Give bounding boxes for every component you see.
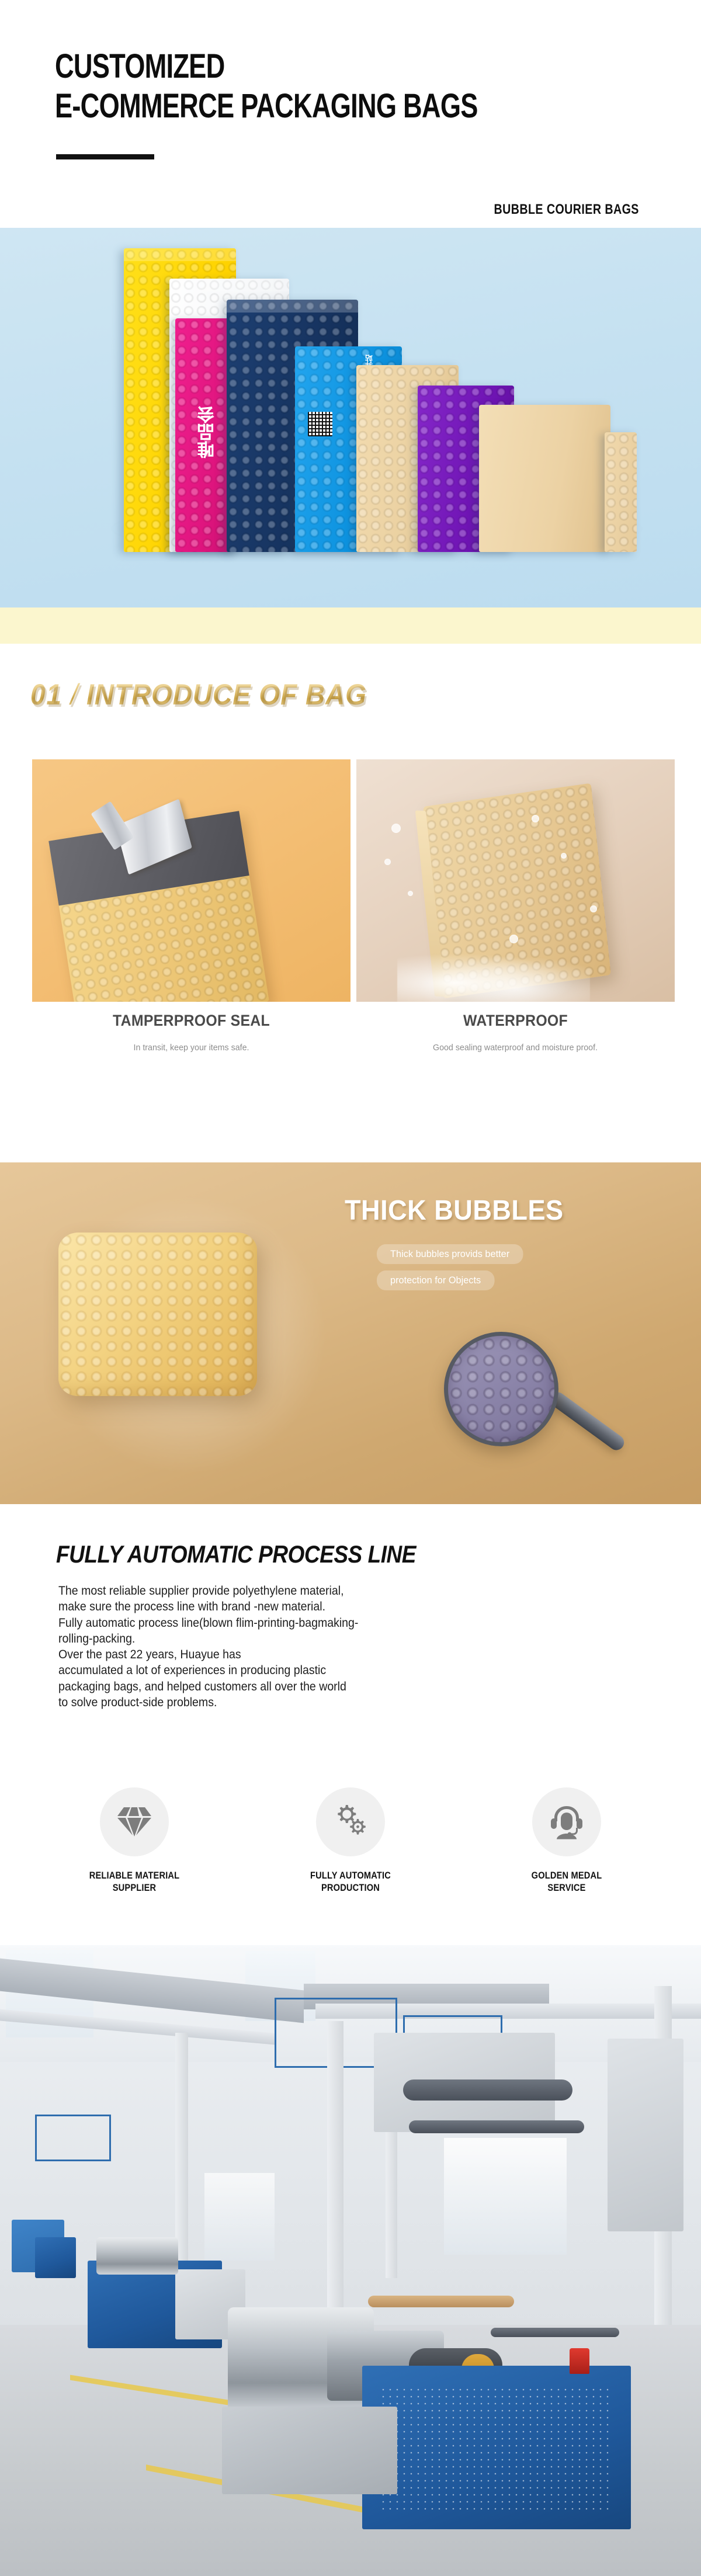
feature-card-tamperproof (32, 759, 350, 1002)
water-droplet (532, 815, 539, 822)
process-line: rolling-packing. (58, 1631, 569, 1647)
warning-lamp (570, 2348, 589, 2374)
section-01-heading: 01 / INTRODUCE OF BAG (30, 678, 367, 711)
qr-code-icon (308, 412, 332, 436)
tamperproof-bag-image (48, 811, 269, 1002)
magnifier-handle (547, 1389, 627, 1453)
water-droplet (509, 935, 518, 943)
title-line-1: CUSTOMIZED (55, 50, 478, 84)
process-line: make sure the process line with brand -n… (58, 1599, 569, 1615)
advantage-reliable-material: RELIABLE MATERIAL SUPPLIER (29, 1787, 240, 1894)
film-roller (403, 2079, 572, 2101)
section-number: 01 (30, 678, 63, 711)
advantage-label: GOLDEN MEDAL SERVICE (476, 1869, 657, 1894)
advantage-label: FULLY AUTOMATIC PRODUCTION (260, 1869, 441, 1894)
page-header: CUSTOMIZED E-COMMERCE PACKAGING BAGS BUB… (0, 0, 701, 228)
headset-icon (549, 1804, 585, 1839)
advantage-label-line-1: GOLDEN MEDAL (476, 1869, 657, 1881)
advantages-row: RELIABLE MATERIAL SUPPLIER FULLY AUTOMAT… (0, 1787, 701, 1945)
icon-circle (100, 1787, 169, 1856)
page-title: CUSTOMIZED E-COMMERCE PACKAGING BAGS (55, 50, 597, 123)
card-title-waterproof: WATERPROOF (369, 1012, 662, 1030)
bag-flap (227, 300, 358, 313)
advantage-label-line-2: SUPPLIER (44, 1881, 225, 1894)
icon-circle (532, 1787, 601, 1856)
process-line: Over the past 22 years, Huayue has (58, 1647, 569, 1662)
title-line-2: E-COMMERCE PACKAGING BAGS (55, 89, 478, 123)
section-separator: / (71, 678, 79, 711)
mailer-bag-kraft-small (605, 432, 637, 552)
hero-bottom-band (0, 607, 701, 644)
icon-circle (316, 1787, 385, 1856)
advantage-label-line-1: FULLY AUTOMATIC (260, 1869, 441, 1881)
process-paragraph: The most reliable supplier provide polye… (58, 1583, 569, 1710)
plastic-film-sheet (204, 2173, 275, 2261)
bag-flap (169, 279, 289, 291)
card-desc-tamperproof: In transit, keep your items safe. (40, 1042, 343, 1054)
gears-icon (332, 1804, 369, 1840)
bubble-texture (605, 432, 637, 552)
bag-flap (124, 248, 236, 261)
mailer-bag-kraft (479, 405, 610, 552)
advantage-label-line-2: PRODUCTION (260, 1881, 441, 1894)
header-subtitle: BUBBLE COURIER BAGS (494, 202, 639, 218)
film-roll (96, 2237, 178, 2275)
process-line-section: FULLY AUTOMATIC PROCESS LINE The most re… (0, 1504, 701, 1796)
water-droplet (384, 859, 391, 865)
advantage-fully-automatic: FULLY AUTOMATIC PRODUCTION (245, 1787, 456, 1894)
process-line: Fully automatic process line(blown flim-… (58, 1615, 569, 1631)
process-line: packaging bags, and helped customers all… (58, 1679, 569, 1695)
water-droplet (590, 905, 597, 912)
perforated-panel (380, 2386, 613, 2512)
diamond-icon (116, 1805, 152, 1839)
control-cabinet (608, 2039, 683, 2231)
pink-bag-brand-label: 唯品会 (195, 406, 221, 459)
film-roller (409, 2120, 584, 2133)
magnifier-lens-icon (444, 1332, 558, 1446)
card-title-tamperproof: TAMPERPROOF SEAL (45, 1012, 338, 1030)
feature-card-waterproof (356, 759, 675, 1002)
hero-product-image: 唯品会 心驿站 快递100款计费 (0, 228, 701, 607)
plastic-film-sheet (444, 2138, 567, 2255)
advantage-label: RELIABLE MATERIAL SUPPLIER (44, 1869, 225, 1894)
support-column (327, 2021, 343, 2348)
water-droplet (561, 853, 567, 859)
shaft (491, 2328, 619, 2337)
title-underline-rule (56, 154, 154, 159)
cardboard-core (368, 2296, 514, 2307)
section-title: INTRODUCE OF BAG (86, 678, 367, 711)
factory-photo (0, 1945, 701, 2576)
process-line: The most reliable supplier provide polye… (58, 1583, 569, 1599)
mezzanine-railing (35, 2115, 111, 2161)
water-splash (397, 949, 590, 1002)
process-line: accumulated a lot of experiences in prod… (58, 1662, 569, 1678)
thick-bubbles-caption-2: protection for Objects (377, 1270, 494, 1290)
thick-bubbles-heading: THICK BUBBLES (345, 1195, 564, 1227)
machine-base (222, 2407, 397, 2494)
machine-unit (35, 2237, 76, 2278)
section-01-header: 01 / INTRODUCE OF BAG (0, 644, 701, 761)
advantage-label-line-1: RELIABLE MATERIAL (44, 1869, 225, 1881)
feature-card-row: TAMPERPROOF SEAL In transit, keep your i… (0, 759, 701, 1086)
advantage-label-line-2: SERVICE (476, 1881, 657, 1894)
thick-bubbles-section: THICK BUBBLES Thick bubbles provids bett… (0, 1162, 701, 1504)
inflated-bubble-bag-image (58, 1233, 257, 1396)
water-droplet (408, 891, 413, 896)
process-line: to solve product-side problems. (58, 1695, 569, 1710)
card-desc-waterproof: Good sealing waterproof and moisture pro… (399, 1042, 632, 1054)
advantage-golden-medal-service: GOLDEN MEDAL SERVICE (461, 1787, 672, 1894)
water-droplet (391, 824, 401, 833)
process-heading: FULLY AUTOMATIC PROCESS LINE (56, 1540, 416, 1568)
thick-bubbles-caption-1: Thick bubbles provids better (377, 1244, 523, 1264)
